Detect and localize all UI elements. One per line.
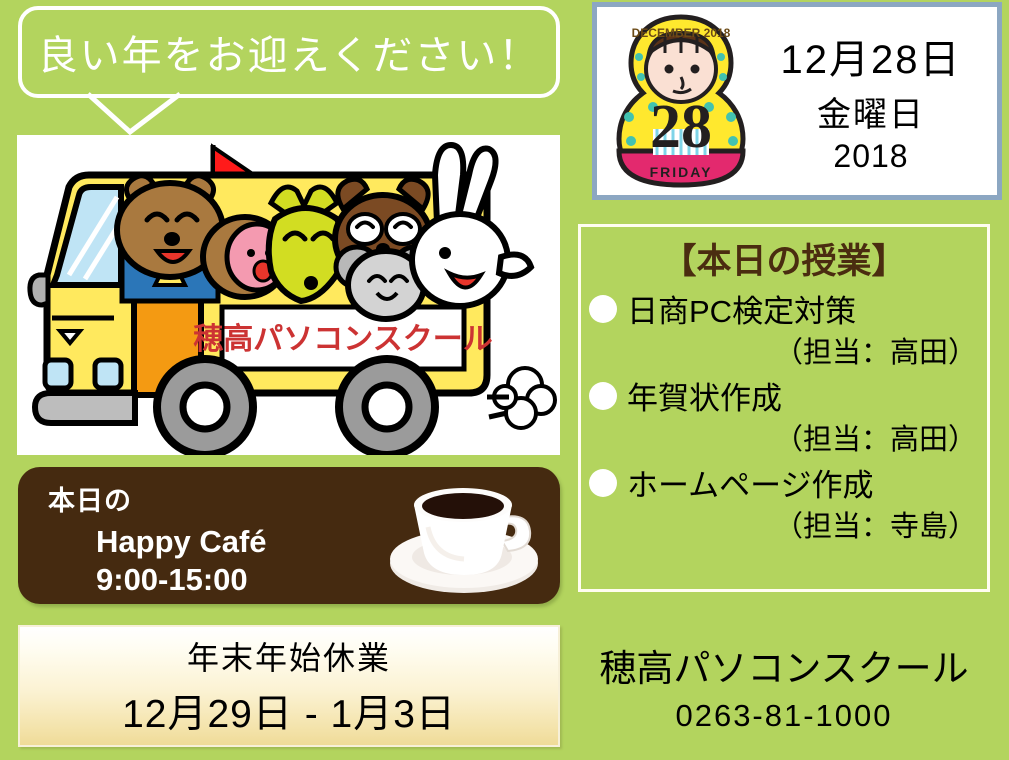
greeting-text: 良い年をお迎えください！ (38, 23, 541, 81)
lesson-teacher: （担当：高田） (585, 329, 983, 371)
lessons-title: 【本日の授業】 (585, 233, 983, 284)
school-name: 穂高パソコンスクール (578, 638, 990, 692)
date-day: 12月28日 (751, 27, 991, 85)
doll-weekday-label: FRIDAY (650, 164, 713, 180)
greeting-speech-bubble: 良い年をお迎えください！ (18, 6, 560, 98)
bullet-circle-icon (589, 382, 617, 410)
poster-canvas: 良い年をお迎えください！ (0, 0, 1009, 760)
todays-lessons-panel: 【本日の授業】 日商PC検定対策 （担当：高田） 年賀状作成 （担当：高田） ホ… (578, 224, 990, 592)
holiday-notice-panel: 年末年始休業 12月29日 - 1月3日 (18, 625, 560, 747)
date-panel: DECEMBER 2018 28 FRIDAY 12月28日 金曜日 2018 (592, 2, 1002, 200)
svg-text:穂高パソコンスクール: 穂高パソコンスクール (193, 323, 492, 356)
cafe-line-hours: 9:00-15:00 (96, 562, 267, 598)
lesson-main-row: 日商PC検定対策 (585, 286, 983, 331)
date-weekday: 金曜日 (751, 87, 991, 136)
date-year: 2018 (751, 138, 991, 175)
doll-day-number: 28 (650, 93, 712, 161)
happy-cafe-panel: 本日の Happy Café 9:00-15:00 (18, 467, 560, 604)
school-contact-footer: 穂高パソコンスクール 0263-81-1000 (578, 628, 990, 748)
lesson-main-row: 年賀状作成 (585, 373, 983, 418)
lesson-item: 年賀状作成 （担当：高田） (585, 373, 983, 458)
lesson-item: 日商PC検定対策 （担当：高田） (585, 286, 983, 371)
cafe-line-today: 本日の (48, 479, 267, 518)
lesson-teacher: （担当：高田） (585, 416, 983, 458)
bullet-circle-icon (589, 469, 617, 497)
bullet-circle-icon (589, 295, 617, 323)
lesson-item: ホームページ作成 （担当：寺島） (585, 460, 983, 545)
cafe-line-name: Happy Café (96, 524, 267, 560)
holiday-dates: 12月29日 - 1月3日 (122, 683, 456, 739)
lesson-name: 年賀状作成 (627, 373, 782, 418)
speech-bubble-tail-icon (88, 92, 223, 138)
lesson-name: ホームページ作成 (627, 460, 873, 505)
school-phone: 0263-81-1000 (578, 698, 990, 734)
cafe-text-block: 本日の Happy Café 9:00-15:00 (48, 479, 267, 598)
date-text-block: 12月28日 金曜日 2018 (751, 27, 997, 175)
kokeshi-calendar-icon: DECEMBER 2018 28 FRIDAY (611, 11, 751, 191)
lesson-name: 日商PC検定対策 (627, 286, 856, 331)
holiday-title: 年末年始休業 (187, 633, 391, 679)
lesson-teacher: （担当：寺島） (585, 503, 983, 545)
bus-illustration: 穂高パソコンスクール (17, 135, 560, 455)
doll-month-label: DECEMBER 2018 (632, 26, 731, 40)
lesson-main-row: ホームページ作成 (585, 460, 983, 505)
coffee-cup-icon (376, 467, 556, 604)
